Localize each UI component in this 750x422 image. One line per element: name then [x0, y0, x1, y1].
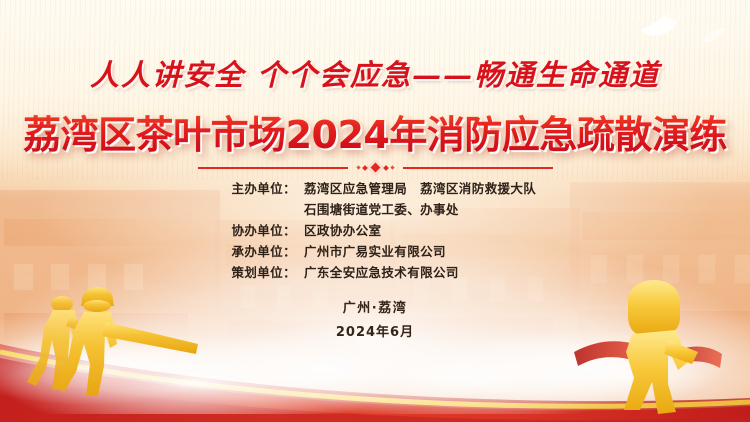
organizer-row: 主办单位： 荔湾区应急管理局 荔湾区消防救援大队: [210, 178, 540, 197]
organizer-label: 主办单位：: [210, 178, 296, 197]
organizer-row: 石围塘街道党工委、办事处: [210, 199, 540, 218]
ornament-dot: [383, 165, 389, 171]
dove-icon: [698, 26, 728, 44]
organizer-value: 石围塘街道党工委、办事处: [296, 199, 540, 218]
organizer-value: 区政协办公室: [296, 220, 540, 239]
diamond-ornament-icon: [348, 162, 403, 173]
organizer-value: 荔湾区应急管理局 荔湾区消防救援大队: [296, 178, 540, 197]
organizer-row: 策划单位： 广东全安应急技术有限公司: [210, 262, 540, 281]
poster-canvas: 人人讲安全 个个会应急——畅通生命通道 荔湾区茶叶市场2024年消防应急疏散演练…: [0, 0, 750, 422]
organizer-label: 策划单位：: [210, 262, 296, 281]
organizer-list: 主办单位： 荔湾区应急管理局 荔湾区消防救援大队 石围塘街道党工委、办事处 协办…: [0, 178, 750, 283]
ornament-diamond: [367, 160, 383, 176]
divider: [0, 162, 750, 173]
page-title: 荔湾区茶叶市场2024年消防应急疏散演练: [0, 104, 750, 159]
organizer-row: 协办单位： 区政协办公室: [210, 220, 540, 239]
footer-date: 2024年6月: [0, 321, 750, 340]
ornament-dot: [390, 165, 394, 169]
organizer-value: 广东全安应急技术有限公司: [296, 262, 540, 281]
organizer-label: 协办单位：: [210, 220, 296, 239]
footer-place: 广州·荔湾: [0, 297, 750, 316]
organizer-row: 承办单位： 广州市广易实业有限公司: [210, 241, 540, 260]
divider-line-right: [403, 167, 553, 169]
ornament-dot: [362, 165, 368, 171]
divider-line-left: [198, 167, 348, 169]
organizer-value: 广州市广易实业有限公司: [296, 241, 540, 260]
poster-footer: 广州·荔湾 2024年6月: [0, 297, 750, 340]
ornament-dot: [356, 165, 360, 169]
dove-icon: [636, 6, 694, 40]
organizer-label: 承办单位：: [210, 241, 296, 260]
poster-subtitle: 人人讲安全 个个会应急——畅通生命通道: [0, 52, 750, 94]
